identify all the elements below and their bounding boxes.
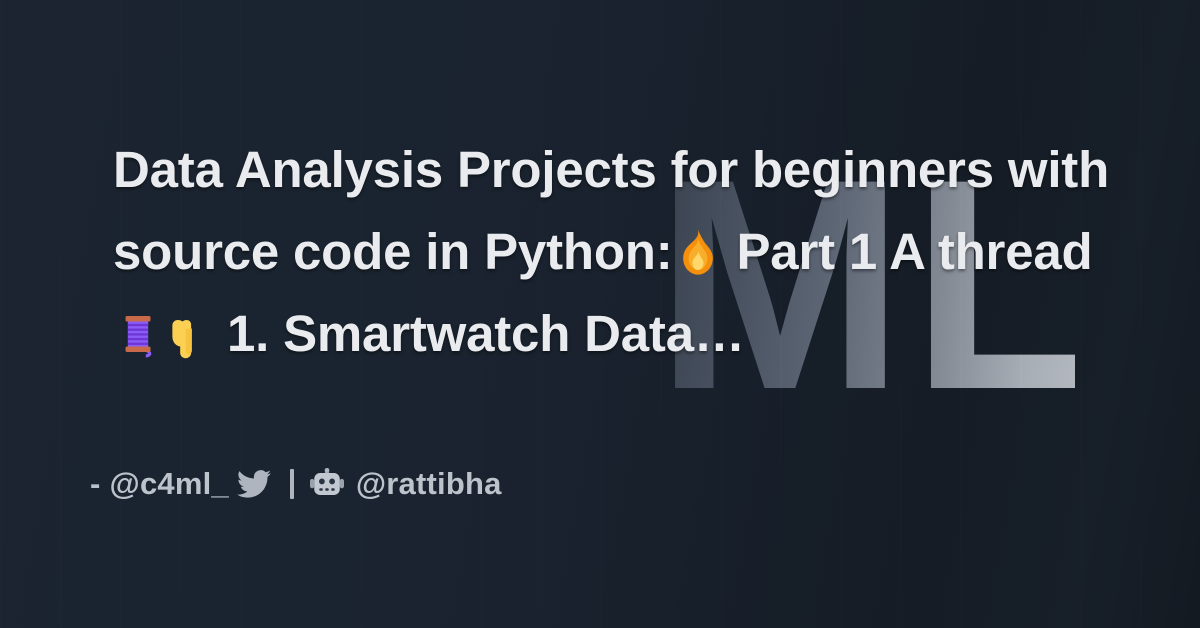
- robot-icon[interactable]: [310, 468, 344, 500]
- headline-line-3-before: A thread: [889, 223, 1092, 280]
- author-handle[interactable]: @c4ml_: [110, 466, 229, 502]
- headline-line-2-after: Part 1: [723, 223, 878, 280]
- headline-line-1: Data Analysis Projects for beginners: [113, 141, 994, 198]
- backhand-index-pointing-down-emoji: [163, 305, 213, 362]
- headline-line-3-after: 1. Smartwatch Data…: [213, 305, 745, 362]
- social-share-card: ML Data Analysis Projects for beginners …: [0, 0, 1200, 628]
- source-handle[interactable]: @rattibha: [356, 466, 502, 502]
- attribution-dash: -: [90, 466, 101, 502]
- twitter-bird-icon[interactable]: [237, 469, 271, 499]
- fire-emoji: [673, 223, 723, 280]
- attribution-bar: - @c4ml_ @rattib: [90, 466, 502, 502]
- tweet-headline-text: Data Analysis Projects for beginners wit…: [113, 129, 1113, 375]
- thread-spool-emoji: [113, 305, 163, 362]
- attribution-separator: [290, 469, 294, 499]
